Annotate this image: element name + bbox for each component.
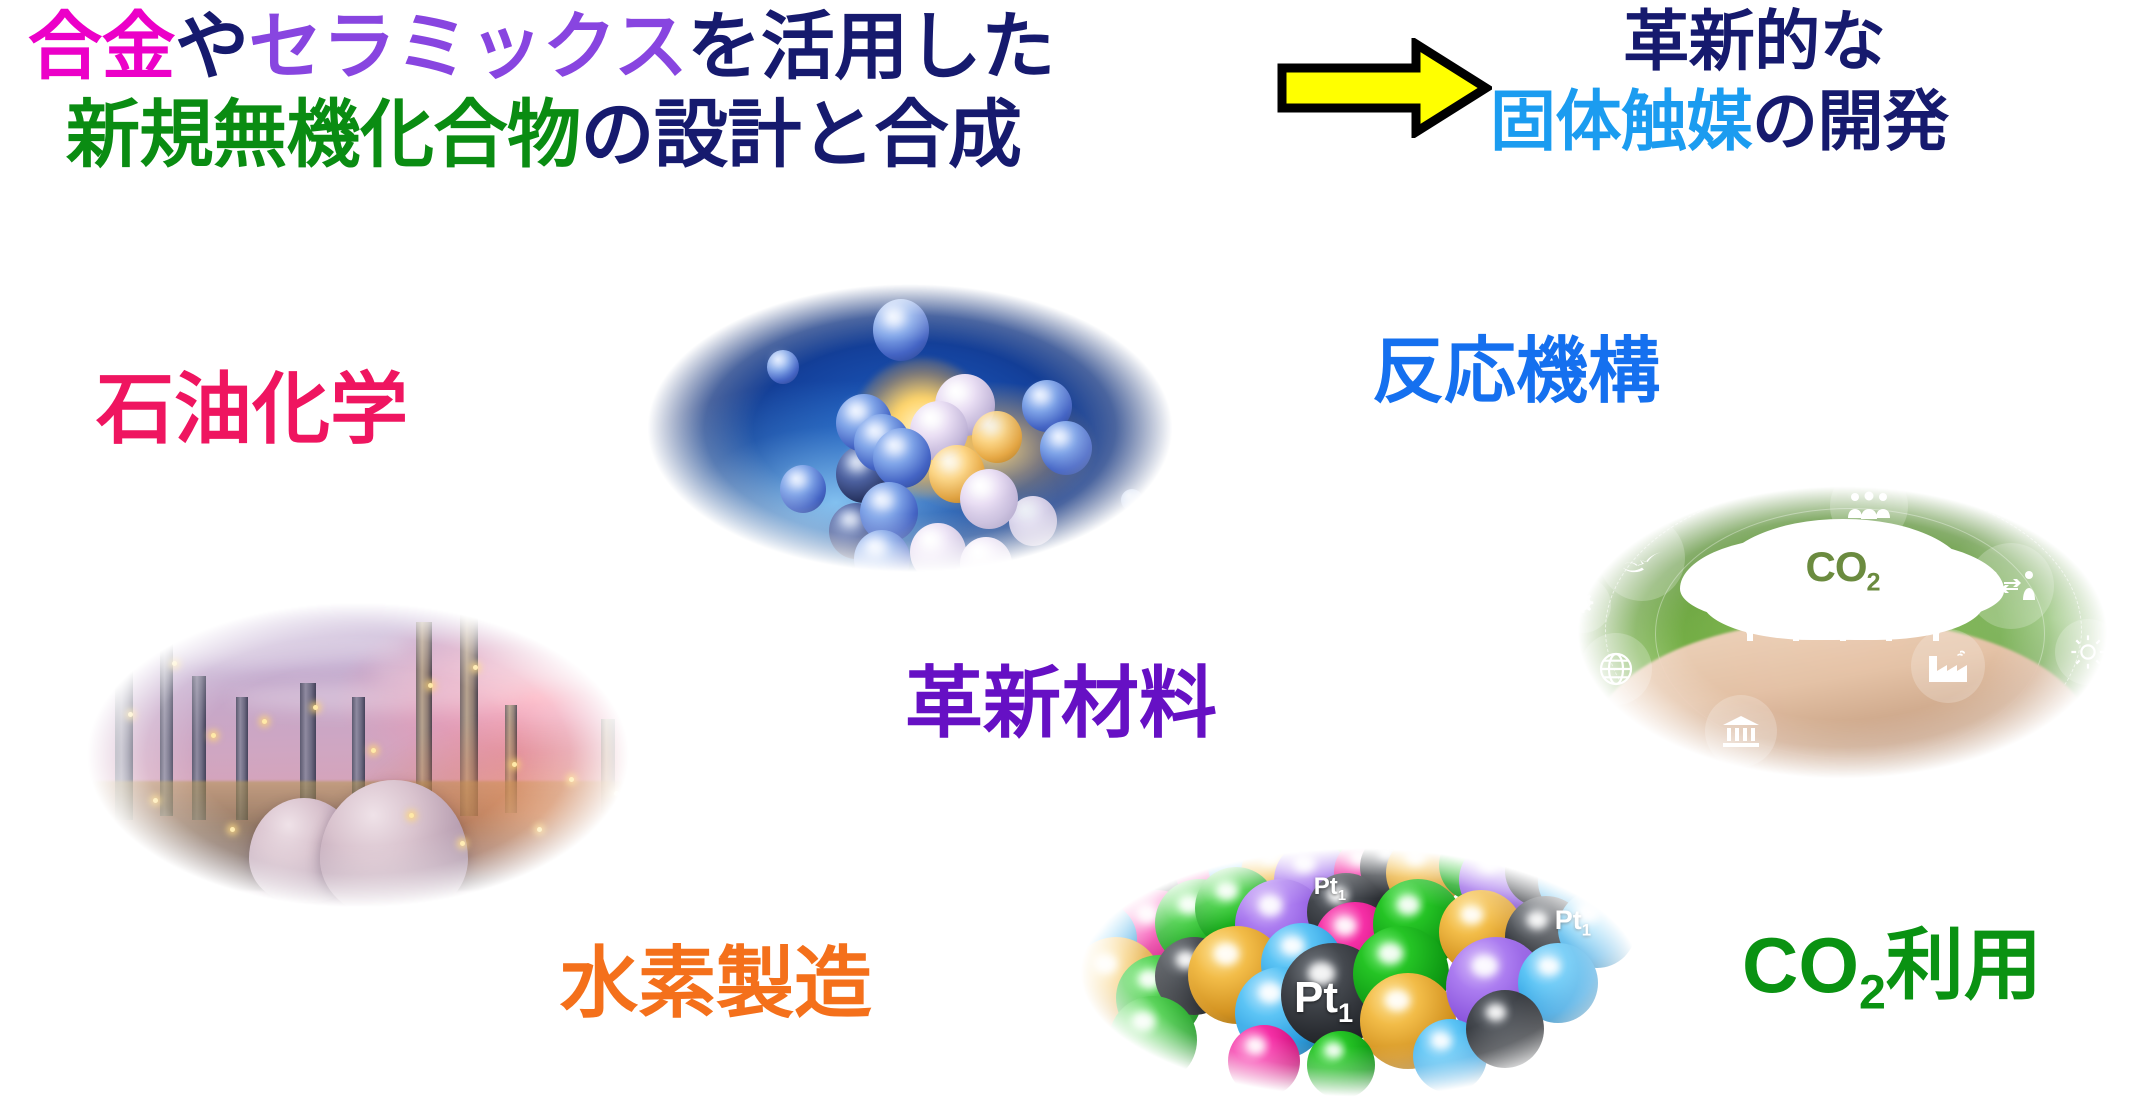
headline-left-seg-ya: や	[175, 5, 249, 88]
nano-ball	[1121, 489, 1143, 511]
nano-ball	[780, 465, 826, 513]
co2-sustainability-image: CO2	[1530, 460, 2155, 805]
headline-right-line1: 革新的な	[1560, 8, 1949, 74]
pt-sphere	[1109, 996, 1197, 1084]
leaf-hand-icon	[1599, 515, 1685, 601]
nano-ball	[960, 537, 1012, 591]
people-group-icon	[1830, 467, 1908, 545]
headline-left-seg-alloy: 合金	[28, 5, 175, 88]
nano-ball	[854, 530, 910, 588]
exchange-people-icon	[1968, 543, 2054, 629]
nanoparticle-cluster-image	[600, 258, 1220, 598]
headline-right: 革新的な 固体触媒の開発	[1560, 8, 1949, 154]
right-arrow-icon	[1276, 38, 1492, 138]
pt1-single-atom-alloy-image: Pt1 Pt1 Pt1 Pt1 Pt1	[1030, 826, 1690, 1119]
headline-left-seg-using: を活用した	[687, 5, 1055, 88]
headline-left-seg-designsynthesis: の設計と合成	[581, 93, 1022, 176]
headline-right-line2: 固体触媒の開発	[1490, 88, 1949, 154]
headline-left-seg-ceramics: セラミックス	[249, 5, 688, 88]
label-co2-tail: 利用	[1886, 921, 2042, 1009]
headline-right-seg-innovative: 革新的な	[1623, 4, 1885, 78]
label-innovative-materials: 革新材料	[905, 664, 1217, 742]
pt-sphere	[1307, 1031, 1375, 1099]
nano-ball	[972, 411, 1022, 463]
nano-ball	[625, 472, 659, 504]
nano-ball	[767, 350, 799, 384]
nano-ball	[873, 428, 931, 488]
pt-sphere	[1228, 1025, 1300, 1097]
label-co2-utilization: CO2利用	[1742, 926, 2042, 1017]
petrochemical-plant-image	[38, 575, 678, 935]
nano-ball	[910, 523, 966, 581]
factory-icon	[1911, 629, 1985, 703]
co2-cloud-label: CO2	[1805, 543, 1879, 597]
refinery-lights	[38, 575, 678, 935]
headline-right-seg-development: の開発	[1752, 84, 1949, 158]
headline-left-line1: 合金やセラミックスを活用した	[28, 10, 1055, 84]
nano-ball	[960, 469, 1018, 529]
globe-icon	[1580, 633, 1652, 705]
headline-right-seg-solidcatalyst: 固体触媒	[1490, 84, 1752, 158]
label-reaction-mechanism: 反応機構	[1372, 336, 1660, 408]
leaf-icon	[2018, 488, 2064, 534]
bank-icon	[1705, 695, 1777, 767]
pt-sphere	[1466, 990, 1544, 1068]
gear-icon	[1555, 577, 1611, 633]
nano-ball	[873, 299, 929, 361]
headline-left-seg-newinorganic: 新規無機化合物	[66, 93, 581, 176]
label-co2-sub: 2	[1859, 966, 1886, 1020]
headline-left-line2: 新規無機化合物の設計と合成	[28, 98, 1055, 172]
nano-ball	[1040, 421, 1092, 475]
slide-canvas: 合金やセラミックスを活用した 新規無機化合物の設計と合成 革新的な 固体触媒の開…	[0, 0, 2155, 1119]
headline-left: 合金やセラミックスを活用した 新規無機化合物の設計と合成	[28, 10, 1055, 172]
label-petrochemistry: 石油化学	[96, 370, 408, 448]
label-hydrogen-production: 水素製造	[560, 944, 872, 1022]
label-co2-main: CO	[1742, 921, 1859, 1009]
sun-icon	[2055, 619, 2121, 685]
